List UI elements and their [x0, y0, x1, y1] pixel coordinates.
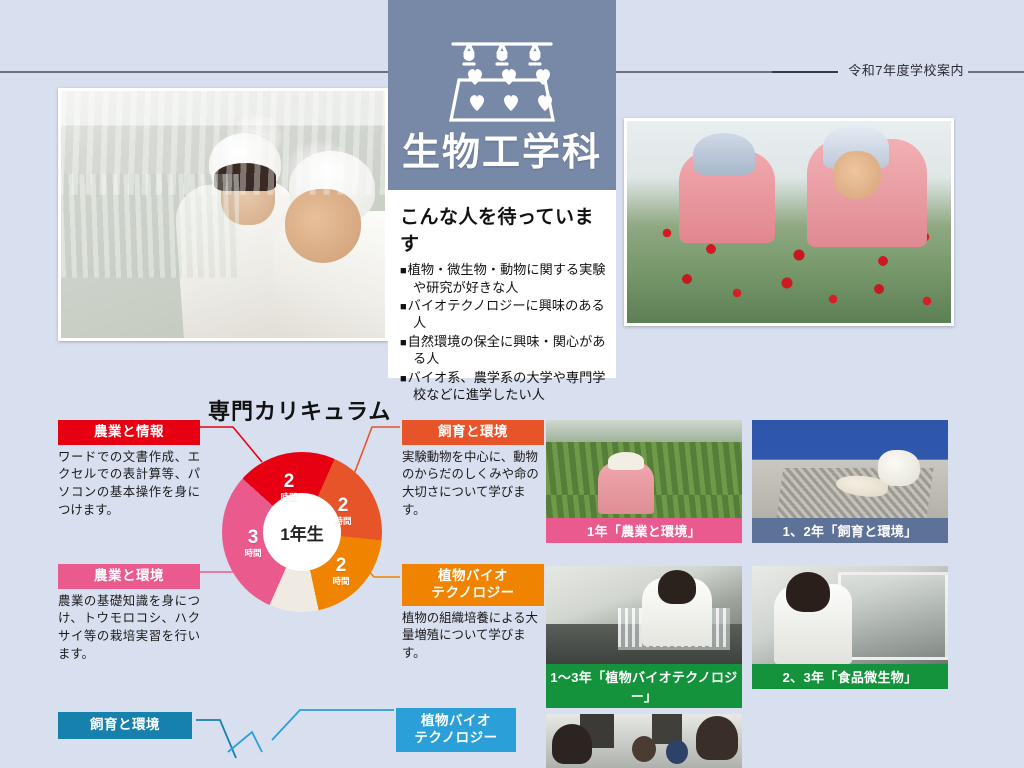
photo-caption-corn: 1年「農業と環境」	[546, 518, 742, 543]
lab-mouse-photo	[752, 420, 948, 518]
curriculum-description-plant-bio: 植物の組織培養による大量増殖について学びます。	[402, 610, 544, 663]
bottom-chip-line-1: 植物バイオ	[421, 713, 491, 728]
classroom-student-2	[696, 716, 738, 760]
donut-label-plant-bio: 2 時間	[324, 556, 358, 586]
classroom-student-3	[632, 736, 656, 762]
wanted-item: バイオテクノロジーに興味のある人	[400, 297, 606, 332]
donut-hours-agri-info: 2	[272, 472, 306, 491]
photo-card-corn: 1年「農業と環境」	[546, 420, 742, 543]
curriculum-description-agri-env: 農業の基礎知識を身につけ、トウモロコシ、ハクサイ等の栽培実習を行います。	[58, 593, 200, 663]
photo-caption-microbio: 2、3年「食品微生物」	[752, 664, 948, 689]
donut-label-breed-env: 2 時間	[326, 496, 360, 526]
curriculum-description-breed-env: 実験動物を中心に、動物のからだのしくみや命の大切さについて学びます。	[402, 449, 544, 519]
photo-card-microbio: 2、3年「食品微生物」	[752, 566, 948, 689]
plantbio-student-head	[658, 570, 696, 604]
curriculum-chip-agri-env: 農業と環境	[58, 564, 200, 589]
student-coat-right	[273, 211, 388, 341]
chip-line-2: テクノロジー	[431, 585, 514, 600]
donut-unit: 時間	[324, 577, 358, 586]
curriculum-description-agri-info: ワードでの文書作成、エクセルでの表計算等、パソコンの基本操作を身につけます。	[58, 449, 200, 519]
student-face-left	[221, 169, 275, 225]
greenhouse-face-right	[833, 151, 881, 199]
curriculum-donut-chart: 1年生 2 時間 2 時間 2 時間 3 時間	[222, 452, 382, 612]
classroom-activity-photo	[546, 714, 742, 768]
donut-unit: 時間	[326, 517, 360, 526]
corn-sky	[546, 420, 742, 442]
donut-unit: 時間	[272, 493, 306, 502]
student-cap-left	[209, 133, 281, 195]
photo-caption-plantbio: 1〜3年「植物バイオテクノロジー」	[546, 664, 742, 708]
header-dash-line	[772, 71, 846, 73]
curriculum-chip-breed-env: 飼育と環境	[402, 420, 544, 445]
greenhouse-cap-left	[693, 133, 755, 175]
brochure-page: 令和7年度学校案内	[0, 0, 1024, 768]
donut-unit: 時間	[236, 549, 270, 558]
curriculum-chip-agri-info: 農業と情報	[58, 420, 200, 445]
food-microbiology-lab-photo	[752, 566, 948, 664]
donut-hours-breed-env: 2	[326, 496, 360, 515]
donut-label-agri-env: 3 時間	[236, 528, 270, 558]
corn-student-cap	[608, 452, 644, 470]
bottom-chip-plant-bio: 植物バイオ テクノロジー	[396, 708, 516, 752]
photo-card-mouse: 1、2年「飼育と環境」	[752, 420, 948, 543]
curriculum-card-agri-info: 農業と情報 ワードでの文書作成、エクセルでの表計算等、パソコンの基本操作を身につ…	[58, 420, 200, 519]
donut-label-agri-info: 2 時間	[272, 472, 306, 502]
gloved-hand	[878, 450, 920, 486]
corn-harvest-photo	[546, 420, 742, 518]
tissue-culture-lab-photo	[58, 88, 388, 341]
donut-hours-plant-bio: 2	[324, 556, 358, 575]
curriculum-chip-plant-bio: 植物バイオ テクノロジー	[402, 564, 544, 606]
curriculum-card-breed-env: 飼育と環境 実験動物を中心に、動物のからだのしくみや命の大切さについて学びます。	[402, 420, 544, 519]
bottom-chip-line-2: テクノロジー	[414, 730, 497, 745]
chip-line-1: 植物バイオ	[438, 568, 508, 583]
hydroponic-seedlings-icon	[443, 34, 561, 126]
student-coat-left	[173, 179, 304, 341]
photo-caption-mouse: 1、2年「飼育と環境」	[752, 518, 948, 543]
wanted-item: 植物・微生物・動物に関する実験や研究が好きな人	[400, 261, 606, 296]
student-hair-left	[214, 163, 276, 191]
department-title: 生物工学科	[388, 121, 616, 176]
greenhouse-carnation-photo	[624, 118, 954, 326]
classroom-student-1	[552, 724, 592, 764]
donut-hours-agri-env: 3	[236, 528, 270, 547]
edition-label: 令和7年度学校案内	[838, 60, 968, 79]
classroom-student-4	[666, 740, 688, 764]
curriculum-card-agri-env: 農業と環境 農業の基礎知識を身につけ、トウモロコシ、ハクサイ等の栽培実習を行いま…	[58, 564, 200, 663]
clean-bench	[838, 572, 948, 660]
plant-biotech-lab-photo	[546, 566, 742, 664]
wanted-item: 自然環境の保全に興味・関心がある人	[400, 333, 606, 368]
photo-card-plantbio: 1〜3年「植物バイオテクノロジー」	[546, 566, 742, 708]
department-title-panel: 生物工学科	[388, 0, 616, 190]
bottom-chip-breed-env: 飼育と環境	[58, 712, 192, 739]
curriculum-card-plant-bio: 植物バイオ テクノロジー 植物の組織培養による大量増殖について学びます。	[402, 564, 544, 663]
student-cap-right	[289, 151, 375, 223]
student-face-right	[285, 189, 361, 263]
microbio-student-head	[786, 572, 830, 612]
wanted-box-title: こんな人を待っています	[400, 202, 606, 256]
wanted-students-box: こんな人を待っています 植物・微生物・動物に関する実験や研究が好きな人 バイオテ…	[388, 190, 616, 378]
